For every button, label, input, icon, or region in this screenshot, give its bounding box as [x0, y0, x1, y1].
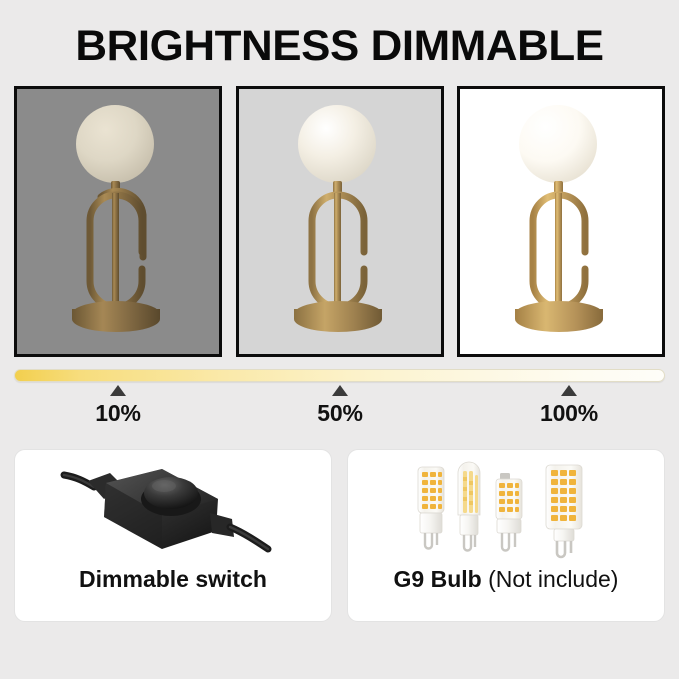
inline-dimmer-switch-icon	[58, 457, 288, 563]
feature-card-row: Dimmable switch	[14, 449, 665, 622]
g9-bulb-card[interactable]: G9 Bulb (Not include)	[347, 449, 665, 622]
marker-label-100: 100%	[509, 400, 629, 427]
brightness-panel-row	[14, 86, 665, 357]
marker-label-10: 10%	[58, 400, 178, 427]
brightness-panel-10[interactable]	[14, 86, 222, 357]
dimmer-switch-art	[15, 456, 331, 564]
table-lamp-medium-icon	[265, 97, 415, 347]
marker-10-percent: 10%	[58, 385, 178, 427]
dimmable-switch-label-bold: Dimmable switch	[79, 566, 267, 592]
triangle-up-icon	[332, 385, 348, 396]
g9-bulb-label-regular: (Not include)	[482, 566, 619, 592]
g9-bulbs-art	[348, 456, 664, 564]
brightness-panel-50[interactable]	[236, 86, 444, 357]
triangle-up-icon	[110, 385, 126, 396]
g9-bulb-label: G9 Bulb (Not include)	[348, 566, 664, 593]
g9-led-bulbs-icon	[406, 457, 606, 563]
brightness-markers: 10% 50% 100%	[0, 385, 679, 430]
table-lamp-dim-icon	[43, 97, 193, 347]
triangle-up-icon	[561, 385, 577, 396]
marker-100-percent: 100%	[509, 385, 629, 427]
table-lamp-bright-icon	[486, 97, 636, 347]
page-title: BRIGHTNESS DIMMABLE	[0, 22, 679, 71]
brightness-panel-100[interactable]	[457, 86, 665, 357]
dimmable-switch-label: Dimmable switch	[15, 566, 331, 593]
marker-50-percent: 50%	[280, 385, 400, 427]
brightness-gradient-bar[interactable]	[14, 369, 665, 382]
marker-label-50: 50%	[280, 400, 400, 427]
dimmable-switch-card[interactable]: Dimmable switch	[14, 449, 332, 622]
g9-bulb-label-bold: G9 Bulb	[394, 566, 482, 592]
